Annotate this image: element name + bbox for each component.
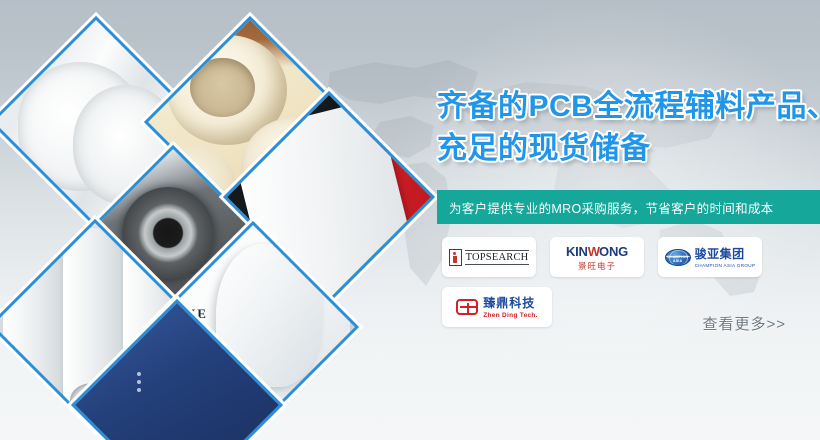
- topsearch-wordmark: TOPSEARCH: [465, 250, 530, 265]
- zhen-ding-english-name: Zhen Ding Tech.: [483, 313, 538, 320]
- headline-line-2: 充足的现货储备: [437, 128, 817, 170]
- client-logo-kinwong[interactable]: KINWONG 景旺电子: [550, 237, 644, 277]
- product-image-collage: JIE: [0, 0, 440, 440]
- promo-banner: JIE 齐备的PCB全流程辅料产品、 充足的现货储备 为客户提供专业的MRO采购…: [0, 0, 820, 440]
- headline-line-1: 齐备的PCB全流程辅料产品、: [437, 90, 820, 123]
- kinwong-word-part1: KIN: [566, 244, 588, 259]
- banner-subtitle-text: 为客户提供专业的MRO采购服务，节省客户的时间和成本: [449, 198, 773, 217]
- client-logo-row-1: TOPSEARCH KINWONG 景旺电子 CHAMPION ASIA: [442, 237, 820, 277]
- champion-asia-globe-icon: CHAMPION ASIA: [665, 249, 691, 266]
- banner-content: 齐备的PCB全流程辅料产品、 充足的现货储备 为客户提供专业的MRO采购服务，节…: [432, 0, 820, 440]
- champion-asia-chinese-name: 骏亚集团: [695, 247, 745, 261]
- zhen-ding-chinese-name: 臻鼎科技: [483, 296, 535, 310]
- client-logo-champion-asia[interactable]: CHAMPION ASIA 骏亚集团 CHAMPION ASIA GROUP: [658, 237, 762, 277]
- client-logo-zhen-ding[interactable]: 臻鼎科技 Zhen Ding Tech.: [442, 287, 552, 327]
- champion-asia-english-name: CHAMPION ASIA GROUP: [695, 264, 756, 269]
- kinwong-word-part2: ONG: [599, 244, 628, 259]
- banner-headline: 齐备的PCB全流程辅料产品、 充足的现货储备: [437, 86, 817, 170]
- banner-subtitle-bar: 为客户提供专业的MRO采购服务，节省客户的时间和成本: [437, 190, 820, 224]
- client-logo-topsearch[interactable]: TOPSEARCH: [442, 237, 536, 277]
- kinwong-word-accent: W: [588, 244, 599, 259]
- globe-label: CHAMPION ASIA: [666, 255, 690, 263]
- topsearch-i-mark-icon: [449, 249, 462, 266]
- kinwong-chinese-name: 景旺电子: [566, 262, 628, 271]
- zhen-ding-zd-mark-icon: [456, 299, 478, 315]
- kinwong-wordmark-icon: KINWONG 景旺电子: [566, 244, 628, 271]
- view-more-link[interactable]: 查看更多>>: [702, 313, 786, 334]
